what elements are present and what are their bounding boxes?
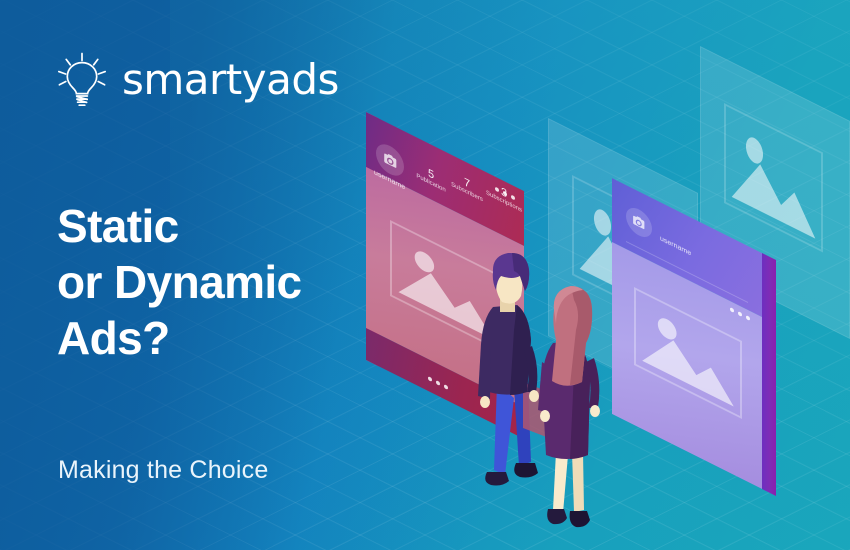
dynamic-card-face: username: [612, 178, 762, 489]
headline-line-3: Ads?: [57, 310, 357, 366]
smartyads-banner: username 5 Publication 7 Subscribers 3 S…: [0, 0, 850, 550]
static-ad-card[interactable]: username 5 Publication 7 Subscribers 3 S…: [366, 112, 524, 360]
headline-line-2: or Dynamic: [57, 254, 357, 310]
left-text-column: smartyads Static or Dynamic Ads? Making …: [0, 0, 360, 550]
dynamic-ad-card[interactable]: username: [612, 178, 762, 414]
brand-logo[interactable]: smartyads: [56, 52, 339, 108]
camera-icon: [632, 212, 646, 232]
page-subtitle: Making the Choice: [58, 456, 268, 485]
page-title: Static or Dynamic Ads?: [57, 198, 357, 366]
brand-name: smartyads: [122, 59, 339, 101]
lightbulb-icon: [56, 52, 108, 108]
dynamic-card-edge: [762, 253, 776, 496]
static-card-face: username 5 Publication 7 Subscribers 3 S…: [366, 112, 524, 439]
headline-line-1: Static: [57, 198, 357, 254]
camera-icon: [383, 149, 398, 171]
